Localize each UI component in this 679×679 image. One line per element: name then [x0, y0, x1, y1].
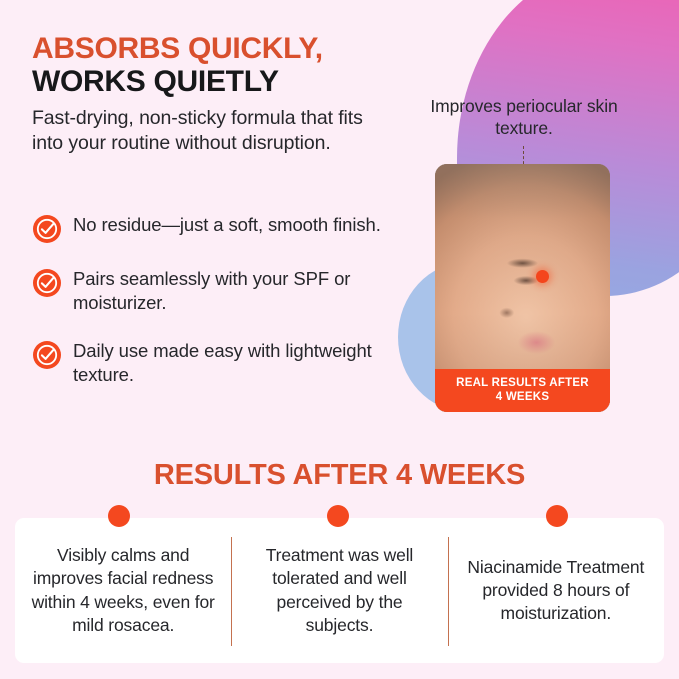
- list-item: Daily use made easy with lightweight tex…: [33, 339, 393, 387]
- benefit-text: No residue—just a soft, smooth finish.: [73, 213, 381, 237]
- benefit-text: Pairs seamlessly with your SPF or moistu…: [73, 267, 393, 315]
- check-circle-icon: [33, 269, 61, 297]
- results-column: Visibly calms and improves facial rednes…: [15, 518, 231, 663]
- results-column-text: Niacinamide Treatment provided 8 hours o…: [458, 556, 654, 626]
- benefits-list: No residue—just a soft, smooth finish. P…: [33, 213, 393, 387]
- list-item: Pairs seamlessly with your SPF or moistu…: [33, 267, 393, 315]
- results-column-text: Treatment was well tolerated and well pe…: [241, 544, 437, 637]
- photo-badge-line-1: REAL RESULTS AFTER: [435, 376, 610, 390]
- photo-badge-line-2: 4 WEEKS: [435, 390, 610, 404]
- subheadline-text: Fast-drying, non-sticky formula that fit…: [32, 106, 397, 157]
- results-bullet-dot-icon: [108, 505, 130, 527]
- results-heading: RESULTS AFTER 4 WEEKS: [0, 459, 679, 492]
- results-bullet-dot-icon: [546, 505, 568, 527]
- check-circle-icon: [33, 341, 61, 369]
- results-bullet-dot-icon: [327, 505, 349, 527]
- results-column: Treatment was well tolerated and well pe…: [231, 518, 447, 663]
- check-circle-icon: [33, 215, 61, 243]
- benefit-text: Daily use made easy with lightweight tex…: [73, 339, 393, 387]
- results-column-text: Visibly calms and improves facial rednes…: [25, 544, 221, 637]
- result-photo: REAL RESULTS AFTER 4 WEEKS: [435, 164, 610, 412]
- callout-label: Improves periocular skin texture.: [419, 96, 629, 140]
- results-column: Niacinamide Treatment provided 8 hours o…: [448, 518, 664, 663]
- orange-dot-marker-icon: [536, 270, 549, 283]
- list-item: No residue—just a soft, smooth finish.: [33, 213, 393, 243]
- photo-module: Improves periocular skin texture. REAL R…: [419, 96, 639, 140]
- results-card: Visibly calms and improves facial rednes…: [15, 518, 664, 663]
- headline-block: ABSORBS QUICKLY, WORKS QUIETLY Fast-dryi…: [32, 32, 397, 157]
- photo-badge: REAL RESULTS AFTER 4 WEEKS: [435, 369, 610, 412]
- headline-line-2: WORKS QUIETLY: [32, 65, 397, 99]
- headline-line-1: ABSORBS QUICKLY,: [32, 32, 397, 65]
